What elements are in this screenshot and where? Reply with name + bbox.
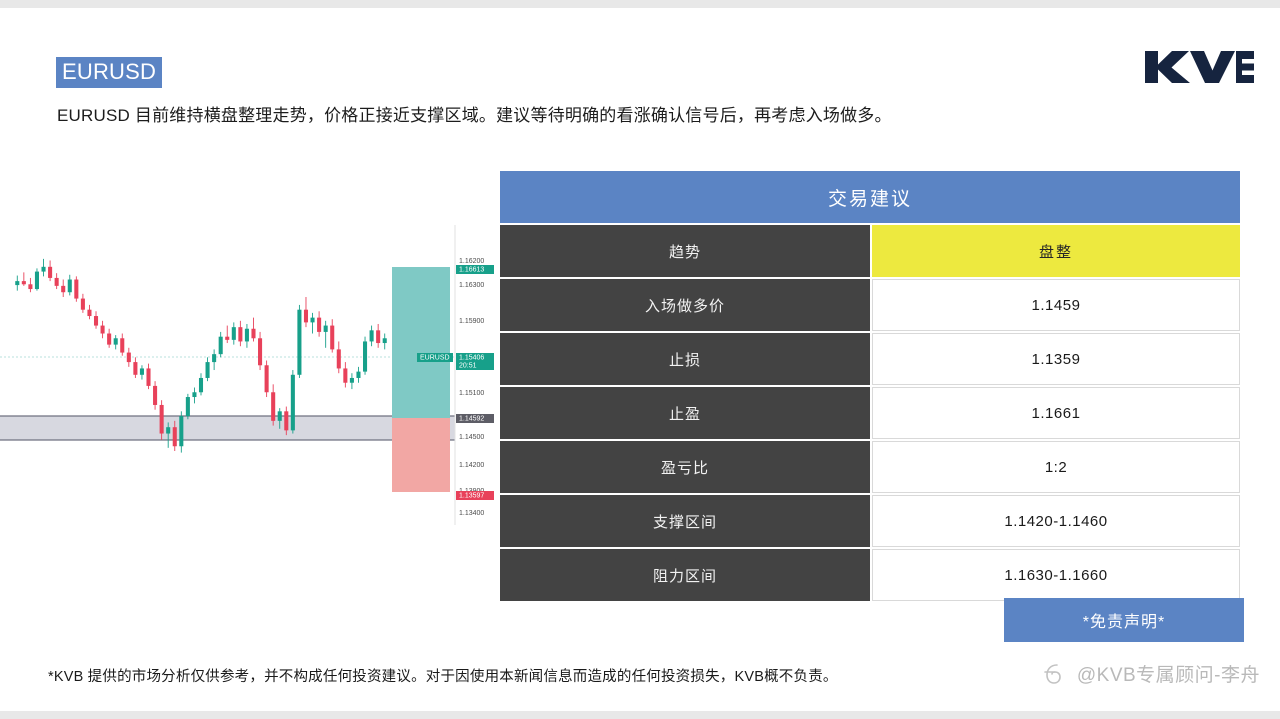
svg-text:EURUSD: EURUSD <box>420 355 450 362</box>
price-chart[interactable]: 1.162001.163001.159001.155001.151001.148… <box>0 225 497 525</box>
row-label: 趋势 <box>500 225 872 277</box>
script-f-icon <box>1041 661 1067 687</box>
svg-text:20:51: 20:51 <box>459 363 477 370</box>
svg-text:1.14592: 1.14592 <box>459 416 484 423</box>
row-label: 止盈 <box>500 387 872 439</box>
svg-text:1.16613: 1.16613 <box>459 267 484 274</box>
table-title: 交易建议 <box>500 171 1240 223</box>
row-label: 阻力区间 <box>500 549 872 601</box>
svg-text:1.13400: 1.13400 <box>459 510 484 517</box>
trade-recommendation-table: 交易建议 趋势盘整入场做多价1.1459止损1.1359止盈1.1661盈亏比1… <box>500 169 1240 603</box>
row-label: 支撑区间 <box>500 495 872 547</box>
top-gutter <box>0 0 1280 8</box>
row-label: 盈亏比 <box>500 441 872 493</box>
svg-text:1.14500: 1.14500 <box>459 434 484 441</box>
table-row: 趋势盘整 <box>500 225 1240 277</box>
svg-text:1.15100: 1.15100 <box>459 390 484 397</box>
bottom-gutter <box>0 711 1280 719</box>
table-row: 支撑区间1.1420-1.1460 <box>500 495 1240 547</box>
watermark: @KVB专属顾问-李舟 <box>1041 660 1260 687</box>
row-value: 1.1630-1.1660 <box>872 549 1240 601</box>
row-label: 入场做多价 <box>500 279 872 331</box>
row-label: 止损 <box>500 333 872 385</box>
kvb-logo <box>1143 47 1255 87</box>
market-summary-text: EURUSD 目前维持横盘整理走势，价格正接近支撑区域。建议等待明确的看涨确认信… <box>57 103 892 129</box>
row-value: 1.1359 <box>872 333 1240 385</box>
watermark-text: @KVB专属顾问-李舟 <box>1077 660 1260 687</box>
table-header-row: 交易建议 <box>500 171 1240 223</box>
svg-text:1.16300: 1.16300 <box>459 282 484 289</box>
page-title: EURUSD <box>56 57 162 88</box>
row-value: 1.1420-1.1460 <box>872 495 1240 547</box>
slide-page: EURUSD EURUSD 目前维持横盘整理走势，价格正接近支撑区域。建议等待明… <box>0 0 1280 719</box>
svg-text:1.13597: 1.13597 <box>459 493 484 500</box>
svg-text:1.15406: 1.15406 <box>459 355 484 362</box>
disclaimer-button[interactable]: *免责声明* <box>1004 598 1244 642</box>
svg-text:1.14200: 1.14200 <box>459 462 484 469</box>
table-row: 阻力区间1.1630-1.1660 <box>500 549 1240 601</box>
svg-text:1.16200: 1.16200 <box>459 258 484 265</box>
table-row: 入场做多价1.1459 <box>500 279 1240 331</box>
row-value: 盘整 <box>872 225 1240 277</box>
row-value: 1.1459 <box>872 279 1240 331</box>
svg-text:1.15900: 1.15900 <box>459 318 484 325</box>
row-value: 1.1661 <box>872 387 1240 439</box>
table-row: 止盈1.1661 <box>500 387 1240 439</box>
row-value: 1:2 <box>872 441 1240 493</box>
footer-disclaimer-text: *KVB 提供的市场分析仅供参考，并不构成任何投资建议。对于因使用本新闻信息而造… <box>48 665 838 686</box>
table-row: 盈亏比1:2 <box>500 441 1240 493</box>
table-row: 止损1.1359 <box>500 333 1240 385</box>
